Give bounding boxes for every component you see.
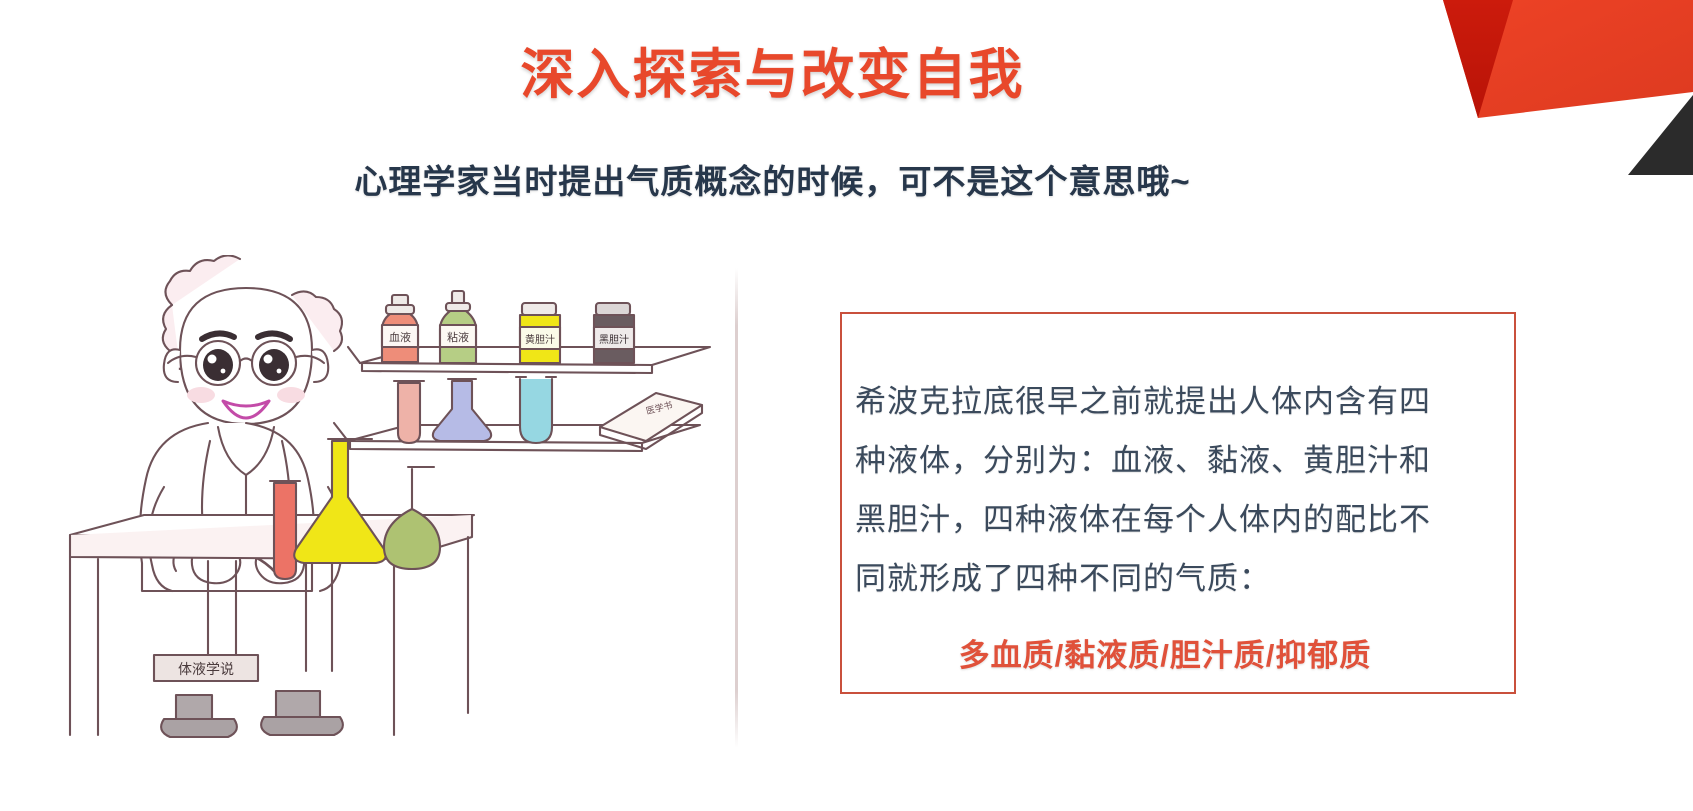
shelf-flask	[433, 379, 491, 441]
svg-text:黄胆汁: 黄胆汁	[525, 333, 555, 346]
scientist-illustration: 血液 粘液 黄胆汁	[60, 255, 720, 765]
shelf-u-tube	[516, 377, 556, 443]
shelf-test-tube	[394, 381, 424, 443]
textbox-line-2: 种液体，分别为：血液、黏液、黄胆汁和	[855, 431, 1505, 490]
bottle-phlegm: 粘液	[440, 291, 476, 363]
svg-text:粘液: 粘液	[447, 330, 469, 344]
textbox-highlight: 多血质/黏液质/胆汁质/抑郁质	[855, 630, 1475, 675]
svg-text:血液: 血液	[389, 330, 411, 344]
info-textbox-content: 希波克拉底很早之前就提出人体内含有四 种液体，分别为：血液、黏液、黄胆汁和 黑胆…	[855, 372, 1505, 675]
svg-text:体液学说: 体液学说	[178, 662, 234, 678]
table-test-tube	[270, 481, 300, 579]
slide-canvas: 深入探索与改变自我 心理学家当时提出气质概念的时候，可不是这个意思哦~	[0, 0, 1693, 811]
svg-text:黑胆汁: 黑胆汁	[599, 333, 629, 346]
textbox-line-4: 同就形成了四种不同的气质：	[855, 549, 1505, 608]
textbox-line-3: 黑胆汁，四种液体在每个人体内的配比不	[855, 490, 1505, 549]
page-title: 深入探索与改变自我	[0, 30, 1545, 109]
scientist-eye-left	[203, 349, 233, 381]
bottle-yellow-bile: 黄胆汁	[520, 303, 560, 363]
bottle-blood: 血液	[382, 295, 418, 362]
stool-left	[161, 695, 237, 737]
page-subtitle: 心理学家当时提出气质概念的时候，可不是这个意思哦~	[0, 155, 1545, 203]
vertical-divider	[735, 268, 738, 748]
scientist-eye-right	[259, 349, 289, 381]
textbox-line-1: 希波克拉底很早之前就提出人体内含有四	[855, 372, 1505, 431]
bottle-black-bile: 黑胆汁	[594, 303, 634, 363]
stool-right	[261, 691, 343, 735]
table-label: 体液学说	[154, 655, 258, 681]
dark-triangle	[1628, 95, 1693, 175]
